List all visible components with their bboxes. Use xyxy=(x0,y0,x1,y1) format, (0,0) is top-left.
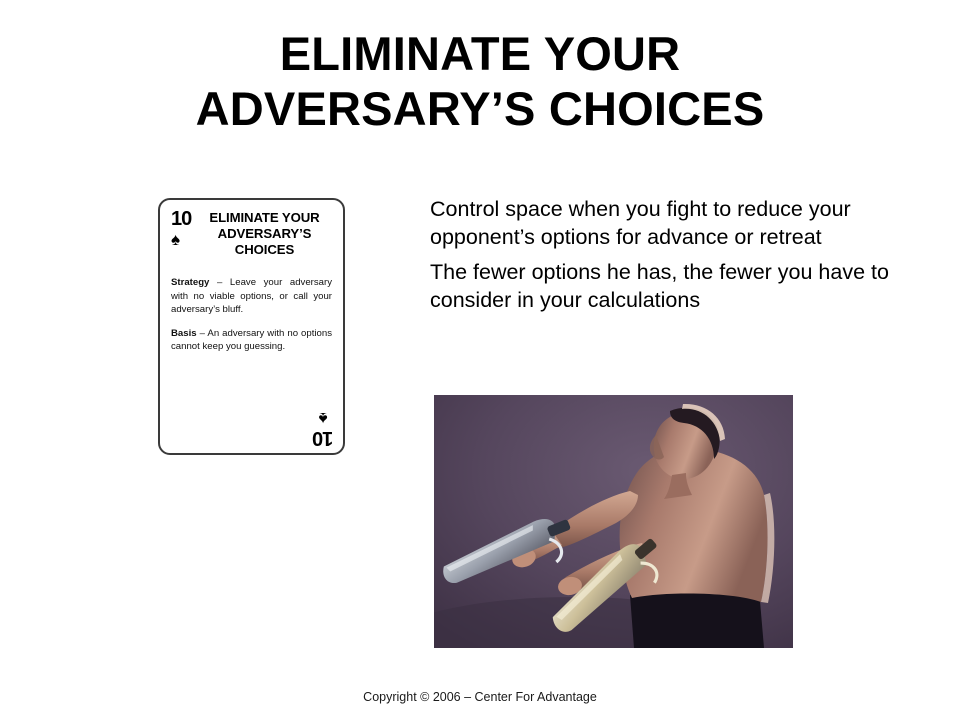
playing-card: 10 ♠ ELIMINATE YOUR ADVERSARY’S CHOICES … xyxy=(158,198,345,455)
playing-card-corner-top-left: 10 ♠ xyxy=(171,209,197,248)
playing-card-corner-bottom-right: ♠ 10 xyxy=(313,410,333,447)
card-title-line-3: CHOICES xyxy=(197,242,332,258)
card-title-line-1: ELIMINATE YOUR xyxy=(197,210,332,226)
spade-icon: ♠ xyxy=(171,231,197,248)
body-copy: Control space when you fight to reduce y… xyxy=(430,196,910,315)
playing-card-title: ELIMINATE YOUR ADVERSARY’S CHOICES xyxy=(197,209,332,258)
page-title-line-1: ELIMINATE YOUR xyxy=(60,26,900,81)
card-strategy-label: Strategy xyxy=(171,277,209,288)
photo-illustration xyxy=(434,395,793,648)
slide-root: ELIMINATE YOUR ADVERSARY’S CHOICES 10 ♠ … xyxy=(0,0,960,720)
body-paragraph-1: Control space when you fight to reduce y… xyxy=(430,196,910,252)
card-strategy-paragraph: Strategy – Leave your adversary with no … xyxy=(171,276,332,316)
card-basis-label: Basis xyxy=(171,328,197,339)
body-paragraph-2: The fewer options he has, the fewer you … xyxy=(430,259,910,315)
playing-card-body: Strategy – Leave your adversary with no … xyxy=(171,276,332,353)
photo-shorts xyxy=(630,591,764,648)
card-rank-label: 10 xyxy=(171,210,197,229)
card-title-line-2: ADVERSARY’S xyxy=(197,226,332,242)
footer-copyright: Copyright © 2006 – Center For Advantage xyxy=(0,690,960,704)
photo-swordsman xyxy=(434,395,793,648)
playing-card-header: 10 ♠ ELIMINATE YOUR ADVERSARY’S CHOICES xyxy=(171,209,332,258)
card-rank-label-inverted: 10 xyxy=(313,428,333,447)
playing-card-inner: 10 ♠ ELIMINATE YOUR ADVERSARY’S CHOICES … xyxy=(160,200,343,453)
page-title: ELIMINATE YOUR ADVERSARY’S CHOICES xyxy=(60,26,900,137)
card-basis-paragraph: Basis – An adversary with no options can… xyxy=(171,327,332,354)
spade-icon-inverted: ♠ xyxy=(313,410,333,427)
page-title-line-2: ADVERSARY’S CHOICES xyxy=(60,81,900,136)
